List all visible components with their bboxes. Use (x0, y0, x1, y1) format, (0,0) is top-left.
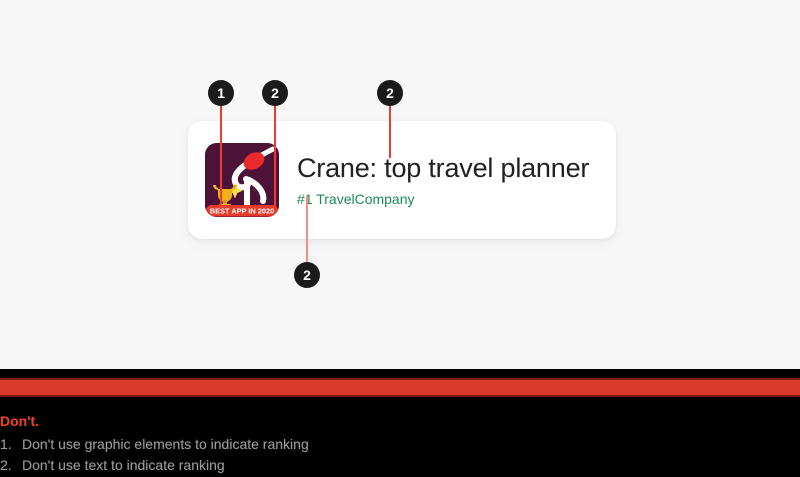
callout-1-leader-line (220, 100, 222, 208)
dont-item-number: 2. (0, 455, 22, 476)
callout-badge-2-subtitle[interactable]: 2 (294, 262, 320, 288)
app-subtitle: #1 TravelCompany (297, 190, 589, 208)
dont-item-number: 1. (0, 434, 22, 455)
dont-heading: Don't. (0, 413, 39, 429)
illustration-canvas: BEST APP IN 2020 Crane: top travel plann… (0, 0, 800, 369)
best-app-banner: BEST APP IN 2020 (206, 205, 278, 217)
app-title: Crane: top travel planner (297, 152, 589, 184)
callout-badge-1[interactable]: 1 (208, 80, 234, 106)
dont-list: 1.Don't use graphic elements to indicate… (0, 434, 309, 476)
dont-panel: Don't. 1.Don't use graphic elements to i… (0, 369, 800, 477)
callout-badge-2-icon-edge[interactable]: 2 (262, 80, 288, 106)
callout-2-title-leader-line (389, 100, 391, 158)
red-divider-band (0, 378, 800, 397)
dont-item-text: Don't use graphic elements to indicate r… (22, 436, 309, 452)
app-list-card[interactable]: BEST APP IN 2020 Crane: top travel plann… (188, 121, 616, 239)
dont-list-item: 2.Don't use text to indicate ranking (0, 455, 309, 476)
crane-app-icon: BEST APP IN 2020 (205, 143, 279, 217)
callout-2-icon-leader-line (274, 100, 276, 208)
dont-item-text: Don't use text to indicate ranking (22, 457, 225, 473)
callout-badge-2-title[interactable]: 2 (377, 80, 403, 106)
callout-2-subtitle-leader-line (306, 196, 308, 266)
app-text-block: Crane: top travel planner #1 TravelCompa… (297, 152, 589, 208)
dont-list-item: 1.Don't use graphic elements to indicate… (0, 434, 309, 455)
